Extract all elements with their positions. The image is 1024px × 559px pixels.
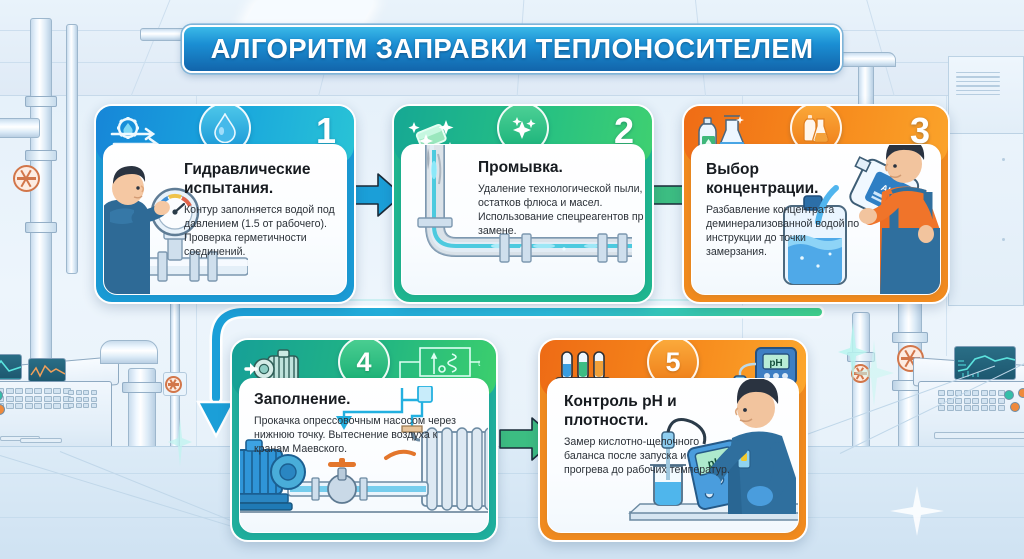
step-card-2-body: Удаление технологической пыли, остатков … (478, 182, 645, 239)
step-card-4-body: Прокачка опрессовочным насосом через ниж… (254, 414, 468, 457)
step-card-1-body: Контур заполняется водой под давлением (… (184, 203, 346, 260)
step-card-3-body: Разбавление концентрата деминерализованн… (706, 203, 864, 260)
step-card-4[interactable]: t 4 (230, 338, 498, 542)
pipe-flange (25, 150, 57, 161)
console-screen (0, 354, 22, 380)
indicator-light-green[interactable] (1004, 390, 1014, 400)
console-drawer[interactable] (934, 432, 1024, 439)
pipe-flange (25, 222, 57, 233)
step-card-3-panel: AHT (691, 144, 941, 295)
vertical-pipe-thin (66, 24, 78, 274)
infographic-canvas: АЛГОРИТМ ЗАПРАВКИ ТЕПЛОНОСИТЕЛЕМ (0, 0, 1024, 559)
step-card-2-panel: Промывка. Удаление технологической пыли,… (401, 144, 645, 295)
pipe-flange (847, 352, 875, 362)
horizontal-pipe (0, 118, 40, 138)
console-numpad[interactable] (68, 390, 97, 408)
step-card-5-badge-number: 5 (665, 349, 680, 376)
bottle-flask-icon (802, 113, 830, 143)
indicator-light-orange[interactable] (1018, 388, 1024, 398)
step-card-5-panel: pH (547, 378, 799, 533)
console-screen (28, 358, 66, 382)
step-card-2[interactable]: 2 (392, 104, 654, 304)
step-card-1-panel: Гидравлические испытания. Контур заполня… (103, 144, 347, 295)
ceiling-light (243, 0, 375, 26)
water-drop-icon (213, 113, 237, 143)
svg-text:pH: pH (769, 358, 782, 369)
step-card-5-heading: Контроль pH и плотности. (564, 393, 732, 431)
control-console-left (0, 328, 112, 460)
page-title: АЛГОРИТМ ЗАПРАВКИ ТЕПЛОНОСИТЕЛЕМ (211, 33, 814, 65)
step-card-5[interactable]: pH 5 (538, 338, 808, 542)
pipe-flange (25, 96, 57, 107)
control-console-right (918, 328, 1024, 460)
step-card-3[interactable]: 3 AHT (682, 104, 950, 304)
duct-elbow (100, 340, 158, 364)
pipe-flange (122, 382, 162, 393)
valve-wheel-icon (165, 376, 182, 393)
valve-wheel-icon (13, 165, 40, 192)
valve-wheel-icon (851, 364, 870, 383)
console-drawer[interactable] (20, 438, 62, 443)
console-screen (954, 346, 1016, 380)
step-card-5-body: Замер кислотно-щелочного баланса после з… (564, 435, 732, 478)
horizontal-pipe (836, 52, 896, 67)
infographic-title-bar: АЛГОРИТМ ЗАПРАВКИ ТЕПЛОНОСИТЕЛЕМ (182, 25, 842, 73)
cabinet-vent-icon (956, 72, 1000, 98)
step-card-4-heading: Заполнение. (254, 391, 468, 410)
step-card-1[interactable]: 1 (94, 104, 356, 304)
vertical-pipe (852, 312, 870, 460)
sparkles-icon (509, 114, 537, 142)
step-card-2-heading: Промывка. (478, 159, 645, 178)
svg-text:t: t (478, 359, 481, 368)
step-card-4-panel: Заполнение. Прокачка опрессовочным насос… (239, 378, 489, 533)
console-keypad[interactable] (0, 388, 71, 409)
step-card-4-badge-number: 4 (356, 349, 371, 376)
indicator-light-orange[interactable] (1010, 402, 1020, 412)
step-card-1-heading: Гидравлические испытания. (184, 161, 346, 199)
step-card-3-heading: Выбор концентрации. (706, 161, 864, 199)
